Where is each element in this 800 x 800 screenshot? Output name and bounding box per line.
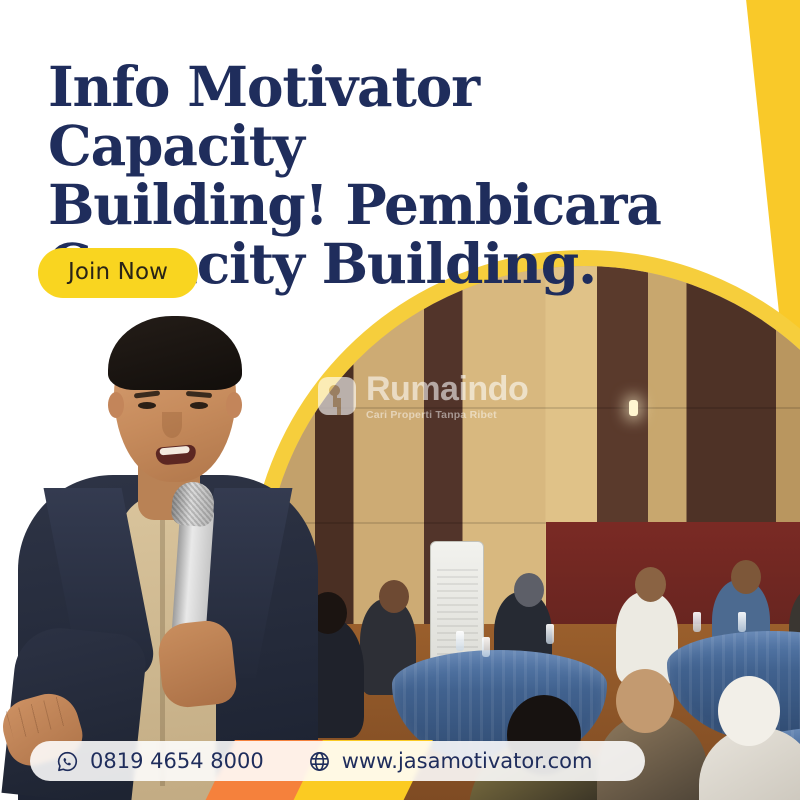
website-contact[interactable]: www.jasamotivator.com [308,749,593,773]
speaker-hair [108,316,242,390]
drinking-glass [456,631,464,651]
speaker-ear-left [108,392,124,418]
drinking-glass [693,612,701,632]
whatsapp-icon [56,750,79,773]
attendee-head [379,580,409,613]
foreground-attendee-head [718,676,780,746]
seminar-photo [264,266,800,800]
foreground-attendee-head [616,669,674,733]
phone-contact[interactable]: 0819 4654 8000 [56,749,264,773]
promotional-poster: Rumaindo Cari Properti Tanpa Ribet Info … [0,0,800,800]
drinking-glass [546,624,554,644]
speaker-hand-holding-microphone [156,618,238,709]
drinking-glass [482,637,490,657]
attendee-head [635,567,666,602]
wall-seam [264,407,800,409]
join-now-button[interactable]: Join Now [38,248,198,298]
phone-number: 0819 4654 8000 [90,749,264,773]
speaker-nose [162,412,182,438]
speaker-ear-right [226,392,242,418]
contact-bar: 0819 4654 8000 www.jasamotivator.com [30,741,645,781]
speaker-eye-left [138,402,156,409]
globe-icon [308,750,331,773]
website-url: www.jasamotivator.com [342,749,593,773]
speaker-eye-right [190,402,208,409]
attendee-head [514,573,544,607]
drinking-glass [738,612,746,632]
ceiling-spotlight [629,400,638,416]
speaker-cutout [10,300,340,800]
